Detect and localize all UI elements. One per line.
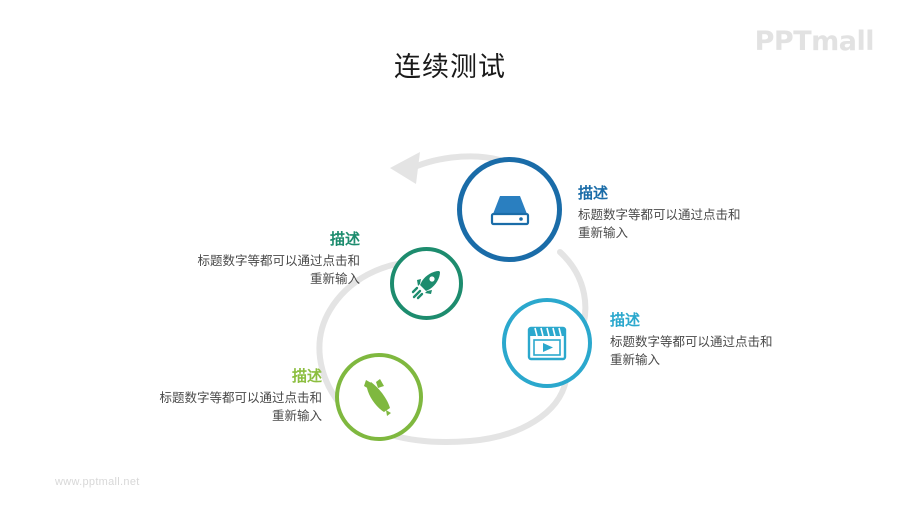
caption-video-title: 描述 [610,310,820,332]
caption-missile-title: 描述 [118,366,322,388]
caption-disk-body: 标题数字等都可以通过点击和 重新输入 [578,206,788,242]
caption-rocket-title: 描述 [160,229,360,251]
spiral-connector-graphic [0,0,900,506]
caption-video: 描述 标题数字等都可以通过点击和 重新输入 [610,310,820,369]
node-video[interactable] [502,298,592,388]
caption-video-body: 标题数字等都可以通过点击和 重新输入 [610,333,820,369]
spiral-arrowhead-icon [390,152,420,184]
caption-missile-body: 标题数字等都可以通过点击和 重新输入 [118,389,322,425]
node-rocket[interactable] [390,247,463,320]
caption-disk: 描述 标题数字等都可以通过点击和 重新输入 [578,183,788,242]
caption-missile: 描述 标题数字等都可以通过点击和 重新输入 [118,366,322,425]
caption-rocket-body: 标题数字等都可以通过点击和 重新输入 [160,252,360,288]
hard-drive-icon [487,190,533,230]
caption-disk-title: 描述 [578,183,788,205]
footer-url: www.pptmall.net [55,476,140,488]
spiral-cycle-diagram: 描述 标题数字等都可以通过点击和 重新输入 描述 标题数字等都可以通过点击和 重… [0,0,900,506]
missile-icon [357,375,401,419]
node-disk[interactable] [457,157,562,262]
caption-rocket: 描述 标题数字等都可以通过点击和 重新输入 [160,229,360,288]
video-clapper-play-icon [525,322,569,364]
node-missile[interactable] [335,353,423,441]
slide-canvas: PPTmall 连续测试 [0,0,900,506]
rocket-icon [409,266,445,302]
